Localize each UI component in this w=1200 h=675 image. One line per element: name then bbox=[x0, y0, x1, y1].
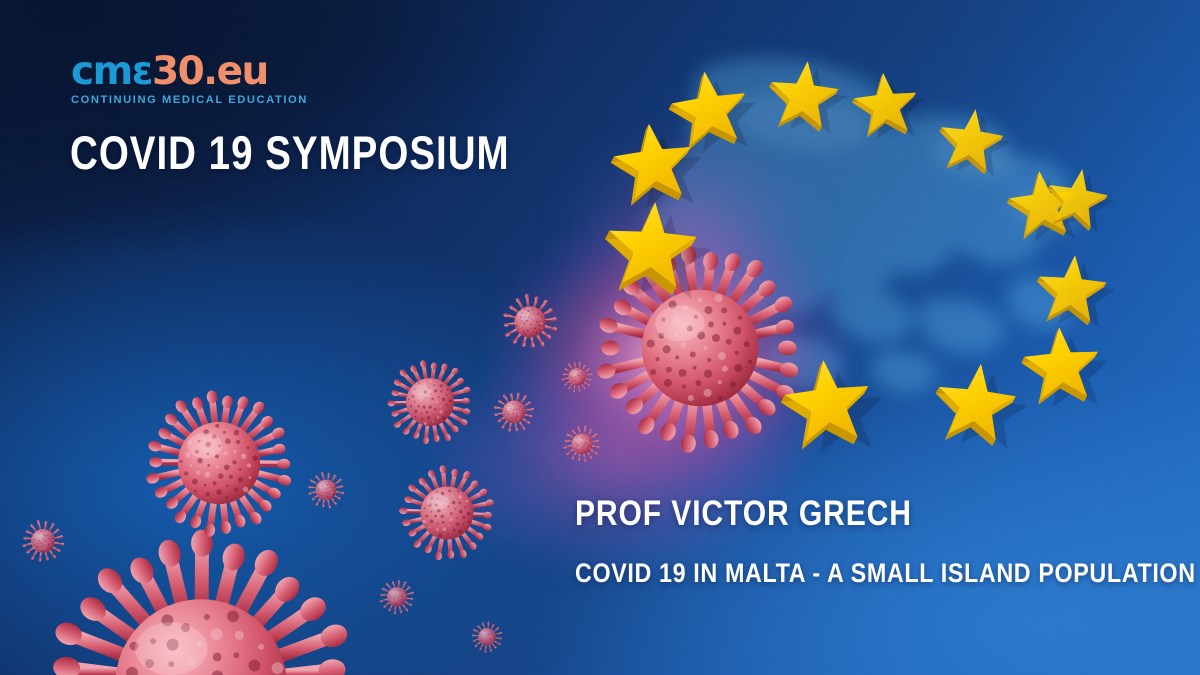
logo-text-epsilon: ɛ bbox=[132, 49, 152, 94]
logo-text-cme: cm bbox=[71, 49, 132, 94]
cme30-logo[interactable]: cmɛ30.eu CONTINUING MEDICAL EDUCATION bbox=[71, 52, 308, 106]
logo-text-30eu: 30.eu bbox=[152, 49, 268, 94]
talk-title: COVID 19 IN MALTA - A SMALL ISLAND POPUL… bbox=[575, 558, 1196, 589]
logo-wordmark: cmɛ30.eu bbox=[71, 52, 308, 91]
symposium-slide: cmɛ30.eu CONTINUING MEDICAL EDUCATION CO… bbox=[0, 0, 1200, 675]
logo-tagline: CONTINUING MEDICAL EDUCATION bbox=[71, 94, 308, 106]
page-title: COVID 19 SYMPOSIUM bbox=[70, 125, 510, 180]
speaker-block: PROF VICTOR GRECH COVID 19 IN MALTA - A … bbox=[575, 494, 1200, 589]
speaker-name: PROF VICTOR GRECH bbox=[575, 494, 1182, 534]
